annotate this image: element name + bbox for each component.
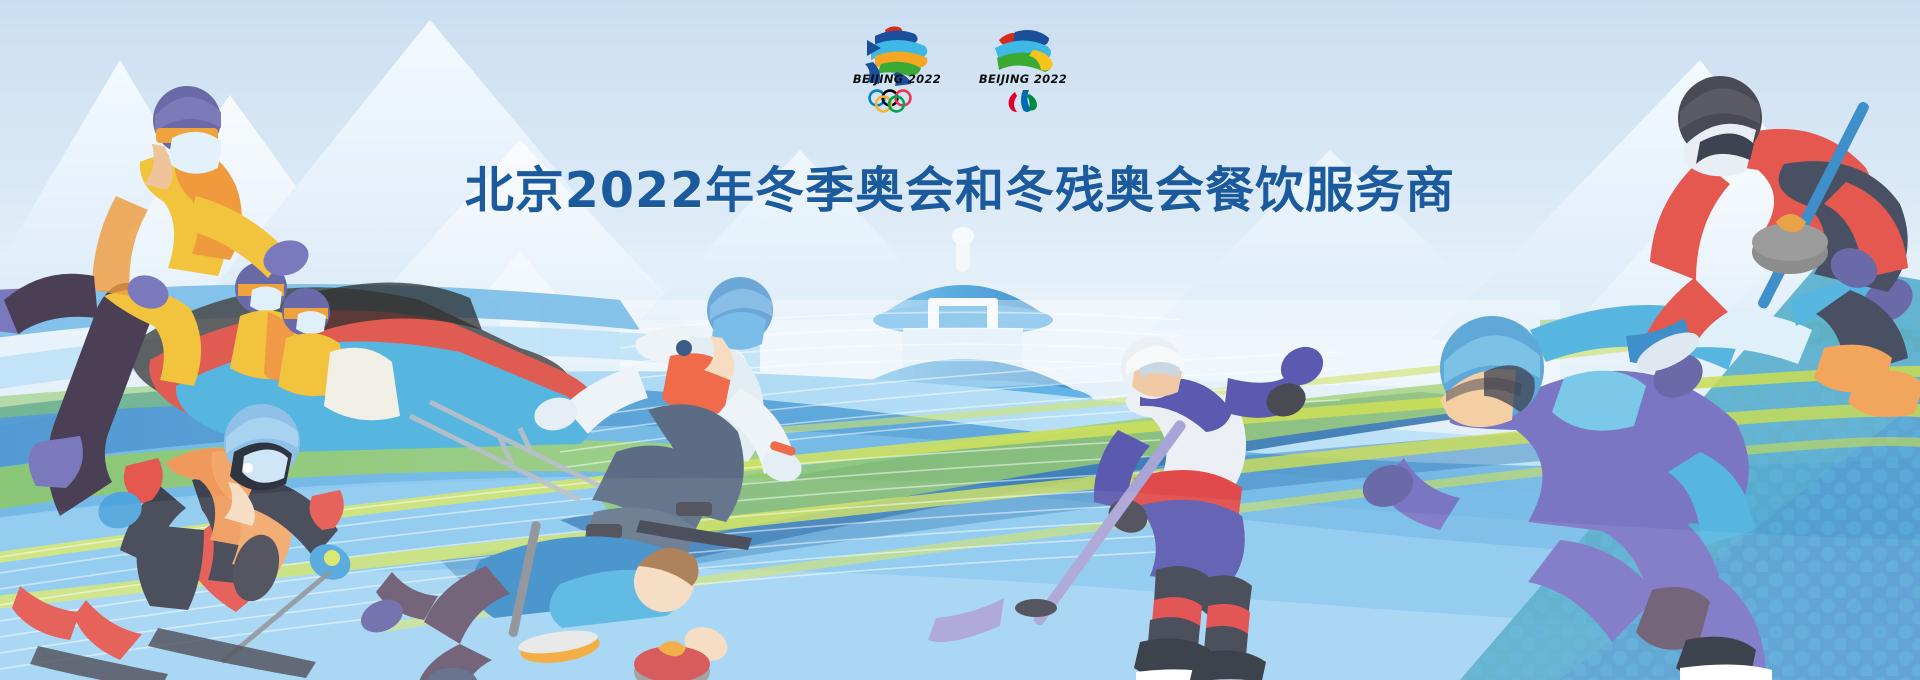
page-title-wrapper: 北京2022年冬季奥会和冬残奥会餐饮服务商 xyxy=(0,118,1920,255)
olympic-wordmark: BEIJING 2022 xyxy=(845,72,949,86)
paralympic-agitos xyxy=(971,88,1075,114)
emblem-row: BEIJING 2022 BEIJING 2022 xyxy=(0,22,1920,118)
page-title: 北京2022年冬季奥会和冬残奥会餐饮服务商 xyxy=(465,151,1455,222)
beijing-2022-olympic-emblem: BEIJING 2022 xyxy=(845,22,949,118)
beijing-2022-paralympic-emblem: BEIJING 2022 xyxy=(971,22,1075,118)
beijing-2022-banner: BEIJING 2022 BEIJING 2022 xyxy=(0,0,1920,680)
olympic-rings xyxy=(845,88,949,114)
paralympic-wordmark: BEIJING 2022 xyxy=(971,72,1075,86)
